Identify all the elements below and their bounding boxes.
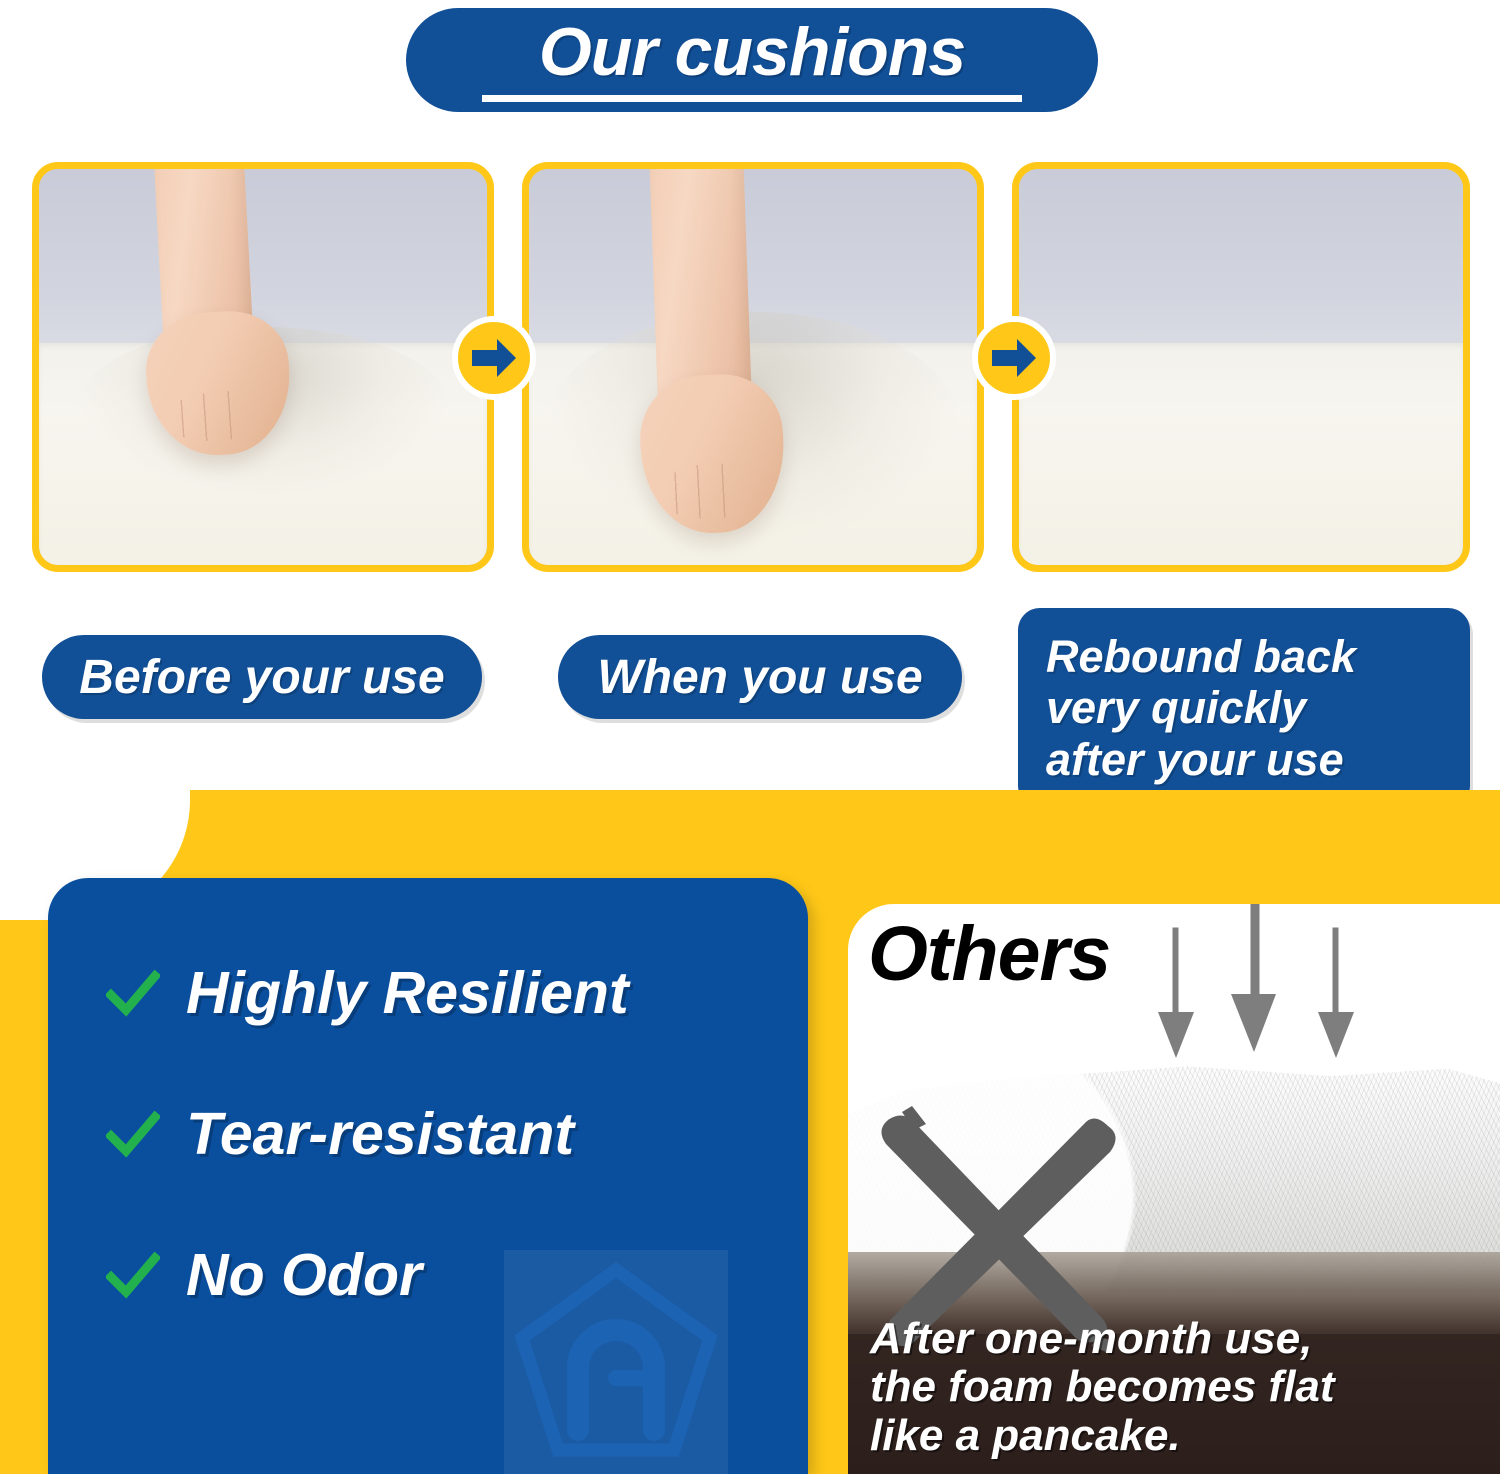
right-arrow-icon bbox=[470, 337, 518, 379]
demo-photo-when-using bbox=[522, 162, 984, 572]
infographic-page: Our cushions bbox=[0, 0, 1500, 1474]
others-caption-line-2: the foam becomes flat bbox=[870, 1363, 1335, 1411]
feature-label: Highly Resilient bbox=[186, 964, 629, 1023]
others-comparison-card: Others bbox=[848, 904, 1500, 1474]
check-icon bbox=[106, 1249, 160, 1303]
page-title-badge: Our cushions bbox=[406, 8, 1098, 112]
feature-label: Tear-resistant bbox=[186, 1105, 574, 1164]
feature-item-no-odor: No Odor bbox=[106, 1246, 788, 1305]
caption-line-3: after your use bbox=[1046, 734, 1344, 785]
knuckle-lines bbox=[167, 388, 273, 444]
feature-item-highly-resilient: Highly Resilient bbox=[106, 964, 788, 1023]
right-arrow-badge-2 bbox=[972, 316, 1056, 400]
check-icon bbox=[106, 1108, 160, 1162]
caption-before-your-use: Before your use bbox=[42, 635, 482, 719]
caption-label: Before your use bbox=[79, 650, 444, 705]
caption-rebound: Rebound back very quickly after your use bbox=[1018, 608, 1470, 808]
caption-line-2: very quickly bbox=[1046, 682, 1306, 733]
caption-label: When you use bbox=[597, 650, 922, 705]
others-caption-line-3: like a pancake. bbox=[870, 1412, 1335, 1460]
feature-label: No Odor bbox=[186, 1246, 422, 1305]
others-caption-line-1: After one-month use, bbox=[870, 1315, 1335, 1363]
right-arrow-badge-1 bbox=[452, 316, 536, 400]
our-cushion-feature-card: Highly Resilient Tear-resistant No Odor bbox=[48, 878, 808, 1474]
feature-list: Highly Resilient Tear-resistant No Odor bbox=[106, 964, 788, 1387]
demo-photo-rebound bbox=[1012, 162, 1470, 572]
photo-background bbox=[1019, 169, 1463, 351]
page-title: Our cushions bbox=[539, 18, 965, 86]
down-arrow-icon bbox=[1148, 904, 1368, 1065]
title-underline bbox=[482, 95, 1022, 102]
caption-line-1: Rebound back bbox=[1046, 631, 1356, 682]
others-caption: After one-month use, the foam becomes fl… bbox=[870, 1315, 1335, 1460]
caption-when-you-use: When you use bbox=[558, 635, 962, 719]
right-arrow-icon bbox=[990, 337, 1038, 379]
foam-surface bbox=[1019, 343, 1463, 565]
check-icon bbox=[106, 967, 160, 1021]
feature-item-tear-resistant: Tear-resistant bbox=[106, 1105, 788, 1164]
others-title: Others bbox=[868, 916, 1110, 993]
knuckle-lines bbox=[662, 461, 768, 520]
demo-photo-before bbox=[32, 162, 494, 572]
